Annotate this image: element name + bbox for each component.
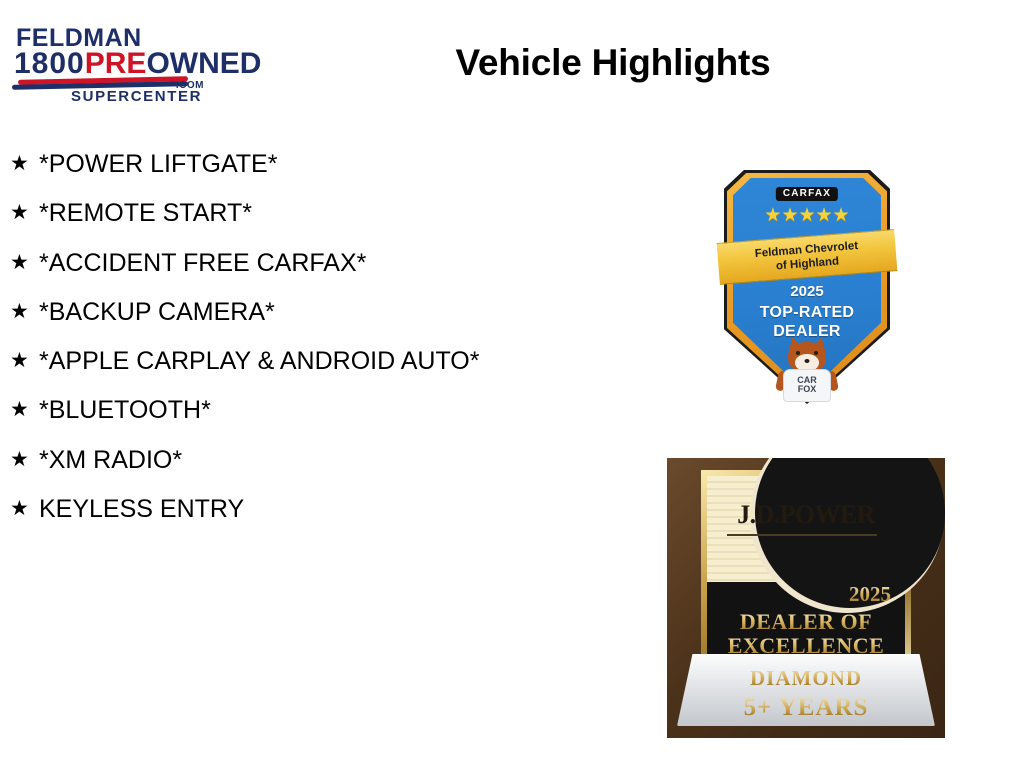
carfax-wordmark: CARFAX xyxy=(776,187,838,201)
list-item-label: *REMOTE START* xyxy=(39,199,510,227)
vehicle-highlights-list: ★ *POWER LIFTGATE* ★ *REMOTE START* ★ *A… xyxy=(10,150,510,544)
carfax-award-year: 2025 xyxy=(724,283,890,300)
star-icon: ★ xyxy=(10,396,39,424)
list-item-label: *XM RADIO* xyxy=(39,446,510,474)
list-item: ★ KEYLESS ENTRY xyxy=(10,495,510,523)
jdpower-brand-text: J.D.POWER xyxy=(707,500,905,530)
page-title: Vehicle Highlights xyxy=(0,42,1024,84)
jdpower-dealer-of-excellence-award: J.D.POWER 2025 DEALER OF EXCELLENCE DIAM… xyxy=(667,458,945,738)
carfox-eye-left xyxy=(796,351,800,355)
carfox-mascot-icon: CAR FOX xyxy=(781,342,833,402)
list-item: ★ *POWER LIFTGATE* xyxy=(10,150,510,178)
list-item: ★ *ACCIDENT FREE CARFAX* xyxy=(10,249,510,277)
jdpower-award-year: 2025 xyxy=(849,582,891,607)
five-stars-icon: ★★★★★ xyxy=(724,204,890,227)
carfox-eye-right xyxy=(814,351,818,355)
jdpower-base-line2: 5+ YEARS xyxy=(667,694,945,722)
star-icon: ★ xyxy=(10,446,39,474)
list-item: ★ *APPLE CARPLAY & ANDROID AUTO* xyxy=(10,347,510,375)
list-item-label: *APPLE CARPLAY & ANDROID AUTO* xyxy=(39,347,510,375)
jdpower-base-line1: DIAMOND xyxy=(667,666,945,691)
jdpower-brand-underline xyxy=(727,534,877,536)
list-item: ★ *REMOTE START* xyxy=(10,199,510,227)
carfax-award-line1: TOP-RATED xyxy=(724,304,890,322)
carfax-award-line2: DEALER xyxy=(724,323,890,341)
star-icon: ★ xyxy=(10,298,39,326)
logo-supercenter-text: SUPERCENTER xyxy=(71,88,202,105)
jdpower-title-line1: DEALER OF xyxy=(707,609,905,635)
list-item-label: *POWER LIFTGATE* xyxy=(39,150,510,178)
star-icon: ★ xyxy=(10,150,39,178)
list-item: ★ *BACKUP CAMERA* xyxy=(10,298,510,326)
list-item: ★ *XM RADIO* xyxy=(10,446,510,474)
carfox-tshirt-text: CAR FOX xyxy=(781,376,833,395)
carfax-top-rated-dealer-badge: CARFAX ★★★★★ Feldman Chevrolet of Highla… xyxy=(724,170,890,404)
star-icon: ★ xyxy=(10,347,39,375)
slide-canvas: FELDMAN 1800PREOWNED .COM SUPERCENTER Ve… xyxy=(0,0,1024,768)
carfox-nose xyxy=(805,359,810,363)
star-icon: ★ xyxy=(10,249,39,277)
list-item-label: KEYLESS ENTRY xyxy=(39,495,510,523)
carfox-tshirt-line2: FOX xyxy=(781,385,833,394)
star-icon: ★ xyxy=(10,495,39,523)
page-title-text: Vehicle Highlights xyxy=(455,42,770,84)
star-icon: ★ xyxy=(10,199,39,227)
jdpower-plaque: J.D.POWER 2025 DEALER OF EXCELLENCE xyxy=(701,470,911,676)
list-item-label: *BACKUP CAMERA* xyxy=(39,298,510,326)
list-item: ★ *BLUETOOTH* xyxy=(10,396,510,424)
list-item-label: *ACCIDENT FREE CARFAX* xyxy=(39,249,510,277)
jdpower-title-line2: EXCELLENCE xyxy=(707,633,905,659)
list-item-label: *BLUETOOTH* xyxy=(39,396,510,424)
